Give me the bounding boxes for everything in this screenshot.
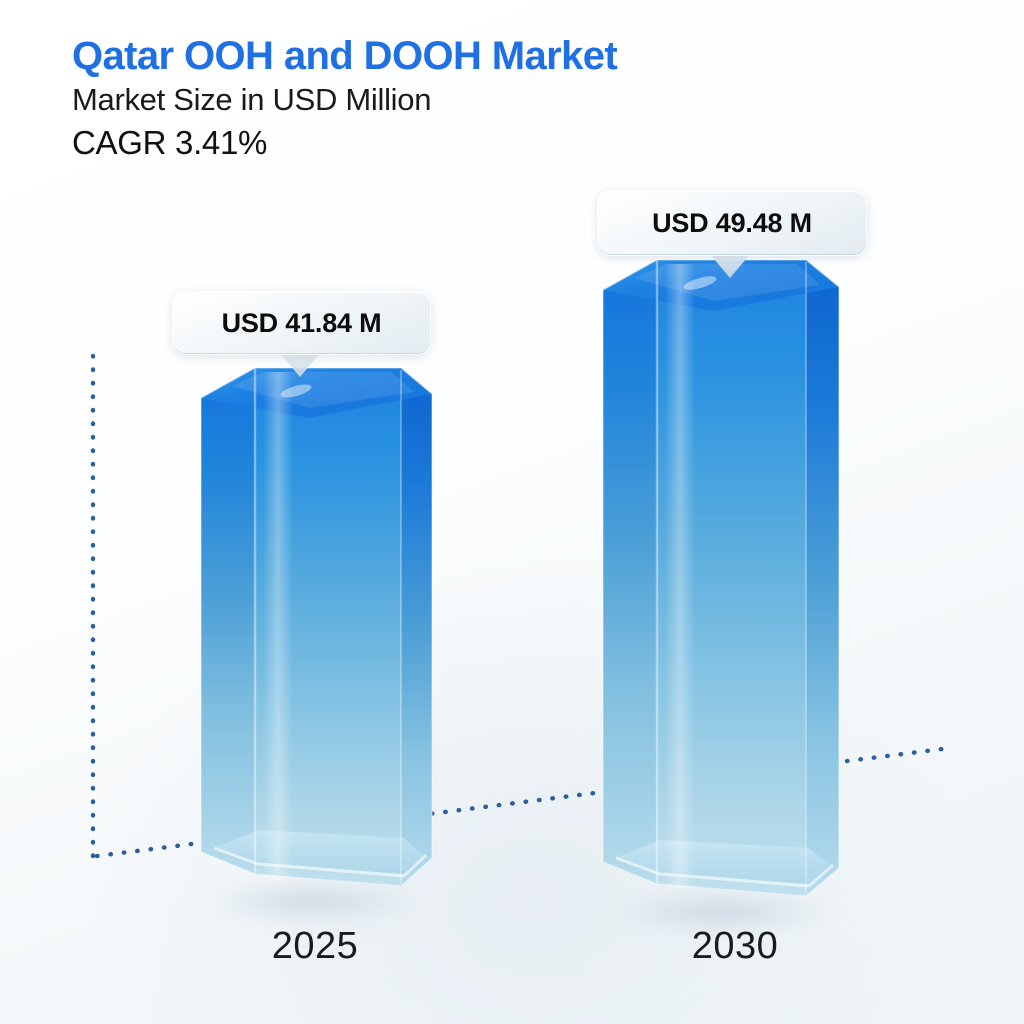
value-callout-2030[interactable]: USD 49.48 M xyxy=(597,190,867,256)
bar-chart xyxy=(0,0,1024,1024)
infographic-canvas: Qatar OOH and DOOH Market Market Size in… xyxy=(0,0,1024,1024)
bar-right-face xyxy=(806,260,839,896)
bar-right-face xyxy=(401,368,432,886)
value-label-2030: USD 49.48 M xyxy=(652,208,812,239)
bar-2025[interactable] xyxy=(184,368,440,926)
bar-2030[interactable] xyxy=(590,260,854,936)
bar-spec-streak xyxy=(263,372,293,880)
value-callout-2025[interactable]: USD 41.84 M xyxy=(172,291,431,355)
category-label-2030: 2030 xyxy=(620,925,850,968)
category-label-2025: 2025 xyxy=(205,925,425,968)
bar-left-face xyxy=(603,260,657,884)
bar-spec-streak xyxy=(665,264,695,888)
value-label-2025: USD 41.84 M xyxy=(222,308,382,339)
bar-left-face xyxy=(201,368,255,874)
